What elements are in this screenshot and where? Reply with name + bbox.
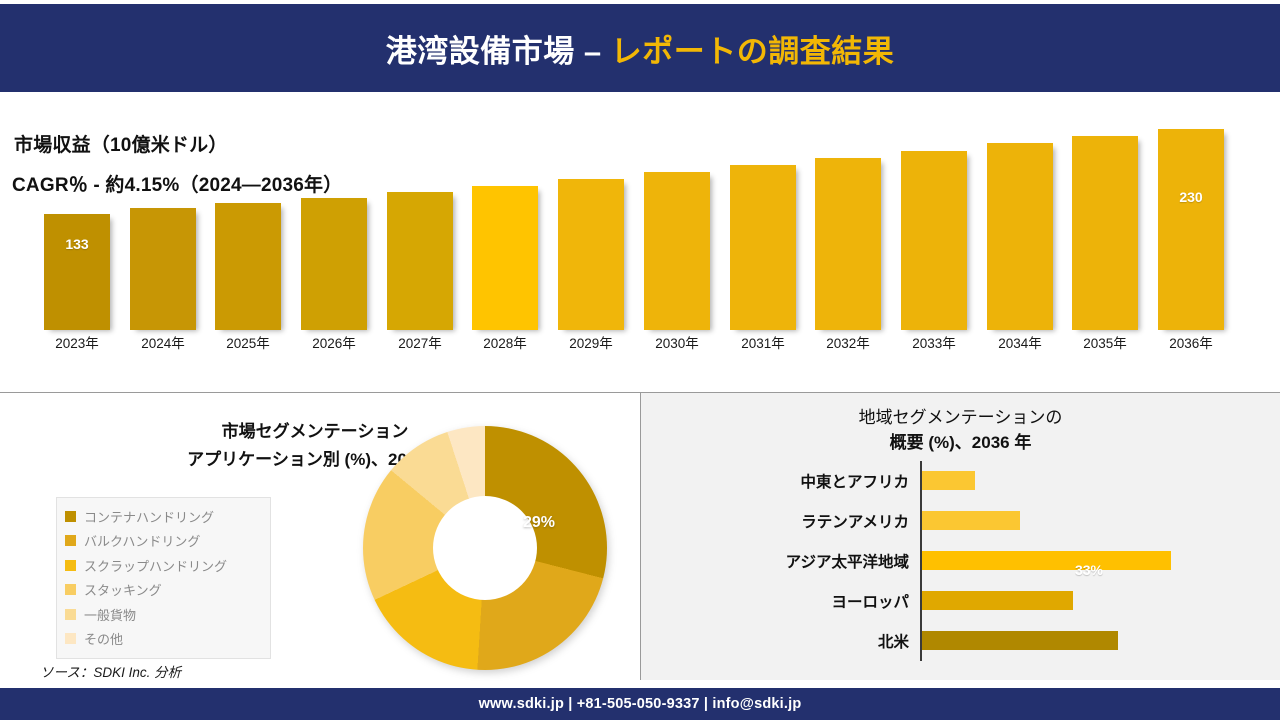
revenue-bar [901,151,967,330]
region-label: アジア太平洋地域 [641,550,909,572]
page-title-main: 港湾設備市場 – [386,34,602,69]
revenue-bar-column [644,120,710,330]
region-bar [922,591,1073,610]
revenue-year-label: 2023年 [44,332,110,352]
revenue-year-label: 2036年 [1158,332,1224,352]
legend-item-label: バルクハンドリング [84,531,200,550]
source-note: ソース：SDKI Inc. 分析 [40,661,181,681]
revenue-bar-column [815,120,881,330]
revenue-year-label: 2032年 [815,332,881,352]
region-bar [922,471,975,490]
legend-item: その他 [65,627,262,652]
revenue-bar-value: 230 [1158,189,1224,205]
donut-callout-label: 29% [523,514,555,532]
revenue-year-label: 2030年 [644,332,710,352]
legend-swatch-icon [65,584,76,595]
legend-item-label: その他 [84,629,123,648]
revenue-year-label: 2034年 [987,332,1053,352]
revenue-bar [472,186,538,330]
revenue-bar-column [1072,120,1138,330]
revenue-bar-column: 133 [44,120,110,330]
revenue-bar: 133 [44,214,110,330]
revenue-bar [644,172,710,330]
revenue-bar [558,179,624,330]
revenue-bar-column [558,120,624,330]
legend-item: スタッキング [65,578,262,603]
revenue-year-label: 2026年 [301,332,367,352]
revenue-bars: 133230 [44,120,1224,330]
revenue-bar [1072,136,1138,330]
revenue-bar-value: 133 [44,236,110,252]
revenue-year-label: 2031年 [730,332,796,352]
region-label: 北米 [641,630,909,652]
donut-hole [433,496,537,600]
revenue-year-label: 2033年 [901,332,967,352]
page-footer: www.sdki.jp | +81-505-050-9337 | info@sd… [0,688,1280,720]
region-row: 北米 [641,621,1280,661]
region-row: ラテンアメリカ [641,501,1280,541]
legend-item-label: スタッキング [84,580,162,599]
region-label: ヨーロッパ [641,590,909,612]
region-bar: 33% [922,551,1171,570]
revenue-bar [301,198,367,330]
legend-item-label: スクラップハンドリング [84,556,227,575]
revenue-bar-column [901,120,967,330]
revenue-bar [730,165,796,330]
revenue-year-axis: 2023年2024年2025年2026年2027年2028年2029年2030年… [44,332,1224,358]
revenue-year-label: 2025年 [215,332,281,352]
legend-item: 一般貨物 [65,602,262,627]
region-row: 中東とアフリカ [641,461,1280,501]
revenue-chart-section: 市場収益（10億米ドル） CAGR％ - 約4.15%（2024―2036年） … [0,92,1280,392]
revenue-bar-column [987,120,1053,330]
segmentation-donut-chart: 29% [363,426,607,670]
legend-swatch-icon [65,560,76,571]
region-row: ヨーロッパ [641,581,1280,621]
page-title: 港湾設備市場 – レポートの調査結果 [386,26,894,71]
revenue-bar: 230 [1158,129,1224,330]
segmentation-legend: コンテナハンドリングバルクハンドリングスクラップハンドリングスタッキング一般貨物… [56,497,271,659]
legend-item: スクラップハンドリング [65,553,262,578]
legend-swatch-icon [65,511,76,522]
legend-item-label: コンテナハンドリング [84,507,214,526]
revenue-bar [215,203,281,330]
legend-item: コンテナハンドリング [65,504,262,529]
page-header: 港湾設備市場 – レポートの調査結果 [0,4,1280,92]
region-label: ラテンアメリカ [641,510,909,532]
revenue-bar-column [215,120,281,330]
revenue-bar-column [472,120,538,330]
region-bar [922,511,1020,530]
region-bar [922,631,1118,650]
revenue-year-label: 2029年 [558,332,624,352]
revenue-bar [130,208,196,330]
revenue-year-label: 2027年 [387,332,453,352]
revenue-bar [387,192,453,330]
region-title-line2: 概要 (%)、2036 年 [641,430,1280,455]
revenue-bar-column [301,120,367,330]
region-title-line1: 地域セグメンテーションの [859,408,1063,427]
revenue-bar [815,158,881,330]
region-bar-value: 33% [1075,561,1103,580]
revenue-bar-column [130,120,196,330]
legend-swatch-icon [65,633,76,644]
page-title-accent: レポートの調査結果 [611,34,895,69]
legend-swatch-icon [65,535,76,546]
region-bar-chart: 中東とアフリカラテンアメリカアジア太平洋地域33%ヨーロッパ北米 [641,461,1280,663]
legend-swatch-icon [65,609,76,620]
region-row: アジア太平洋地域33% [641,541,1280,581]
revenue-bar-column [387,120,453,330]
revenue-bar-column: 230 [1158,120,1224,330]
footer-contact: www.sdki.jp | +81-505-050-9337 | info@sd… [479,696,802,712]
revenue-year-label: 2024年 [130,332,196,352]
legend-item-label: 一般貨物 [84,605,136,624]
region-panel: 地域セグメンテーションの 概要 (%)、2036 年 中東とアフリカラテンアメリ… [641,393,1280,680]
legend-item: バルクハンドリング [65,529,262,554]
revenue-bar-column [730,120,796,330]
infographic-page: 港湾設備市場 – レポートの調査結果 市場収益（10億米ドル） CAGR％ - … [0,0,1280,720]
revenue-year-label: 2028年 [472,332,538,352]
region-title: 地域セグメンテーションの 概要 (%)、2036 年 [641,405,1280,455]
revenue-bar [987,143,1053,330]
revenue-year-label: 2035年 [1072,332,1138,352]
segmentation-panel: 市場セグメンテーション アプリケーション別 (%)、2036年 コンテナハンドリ… [0,393,640,680]
region-label: 中東とアフリカ [641,470,909,492]
